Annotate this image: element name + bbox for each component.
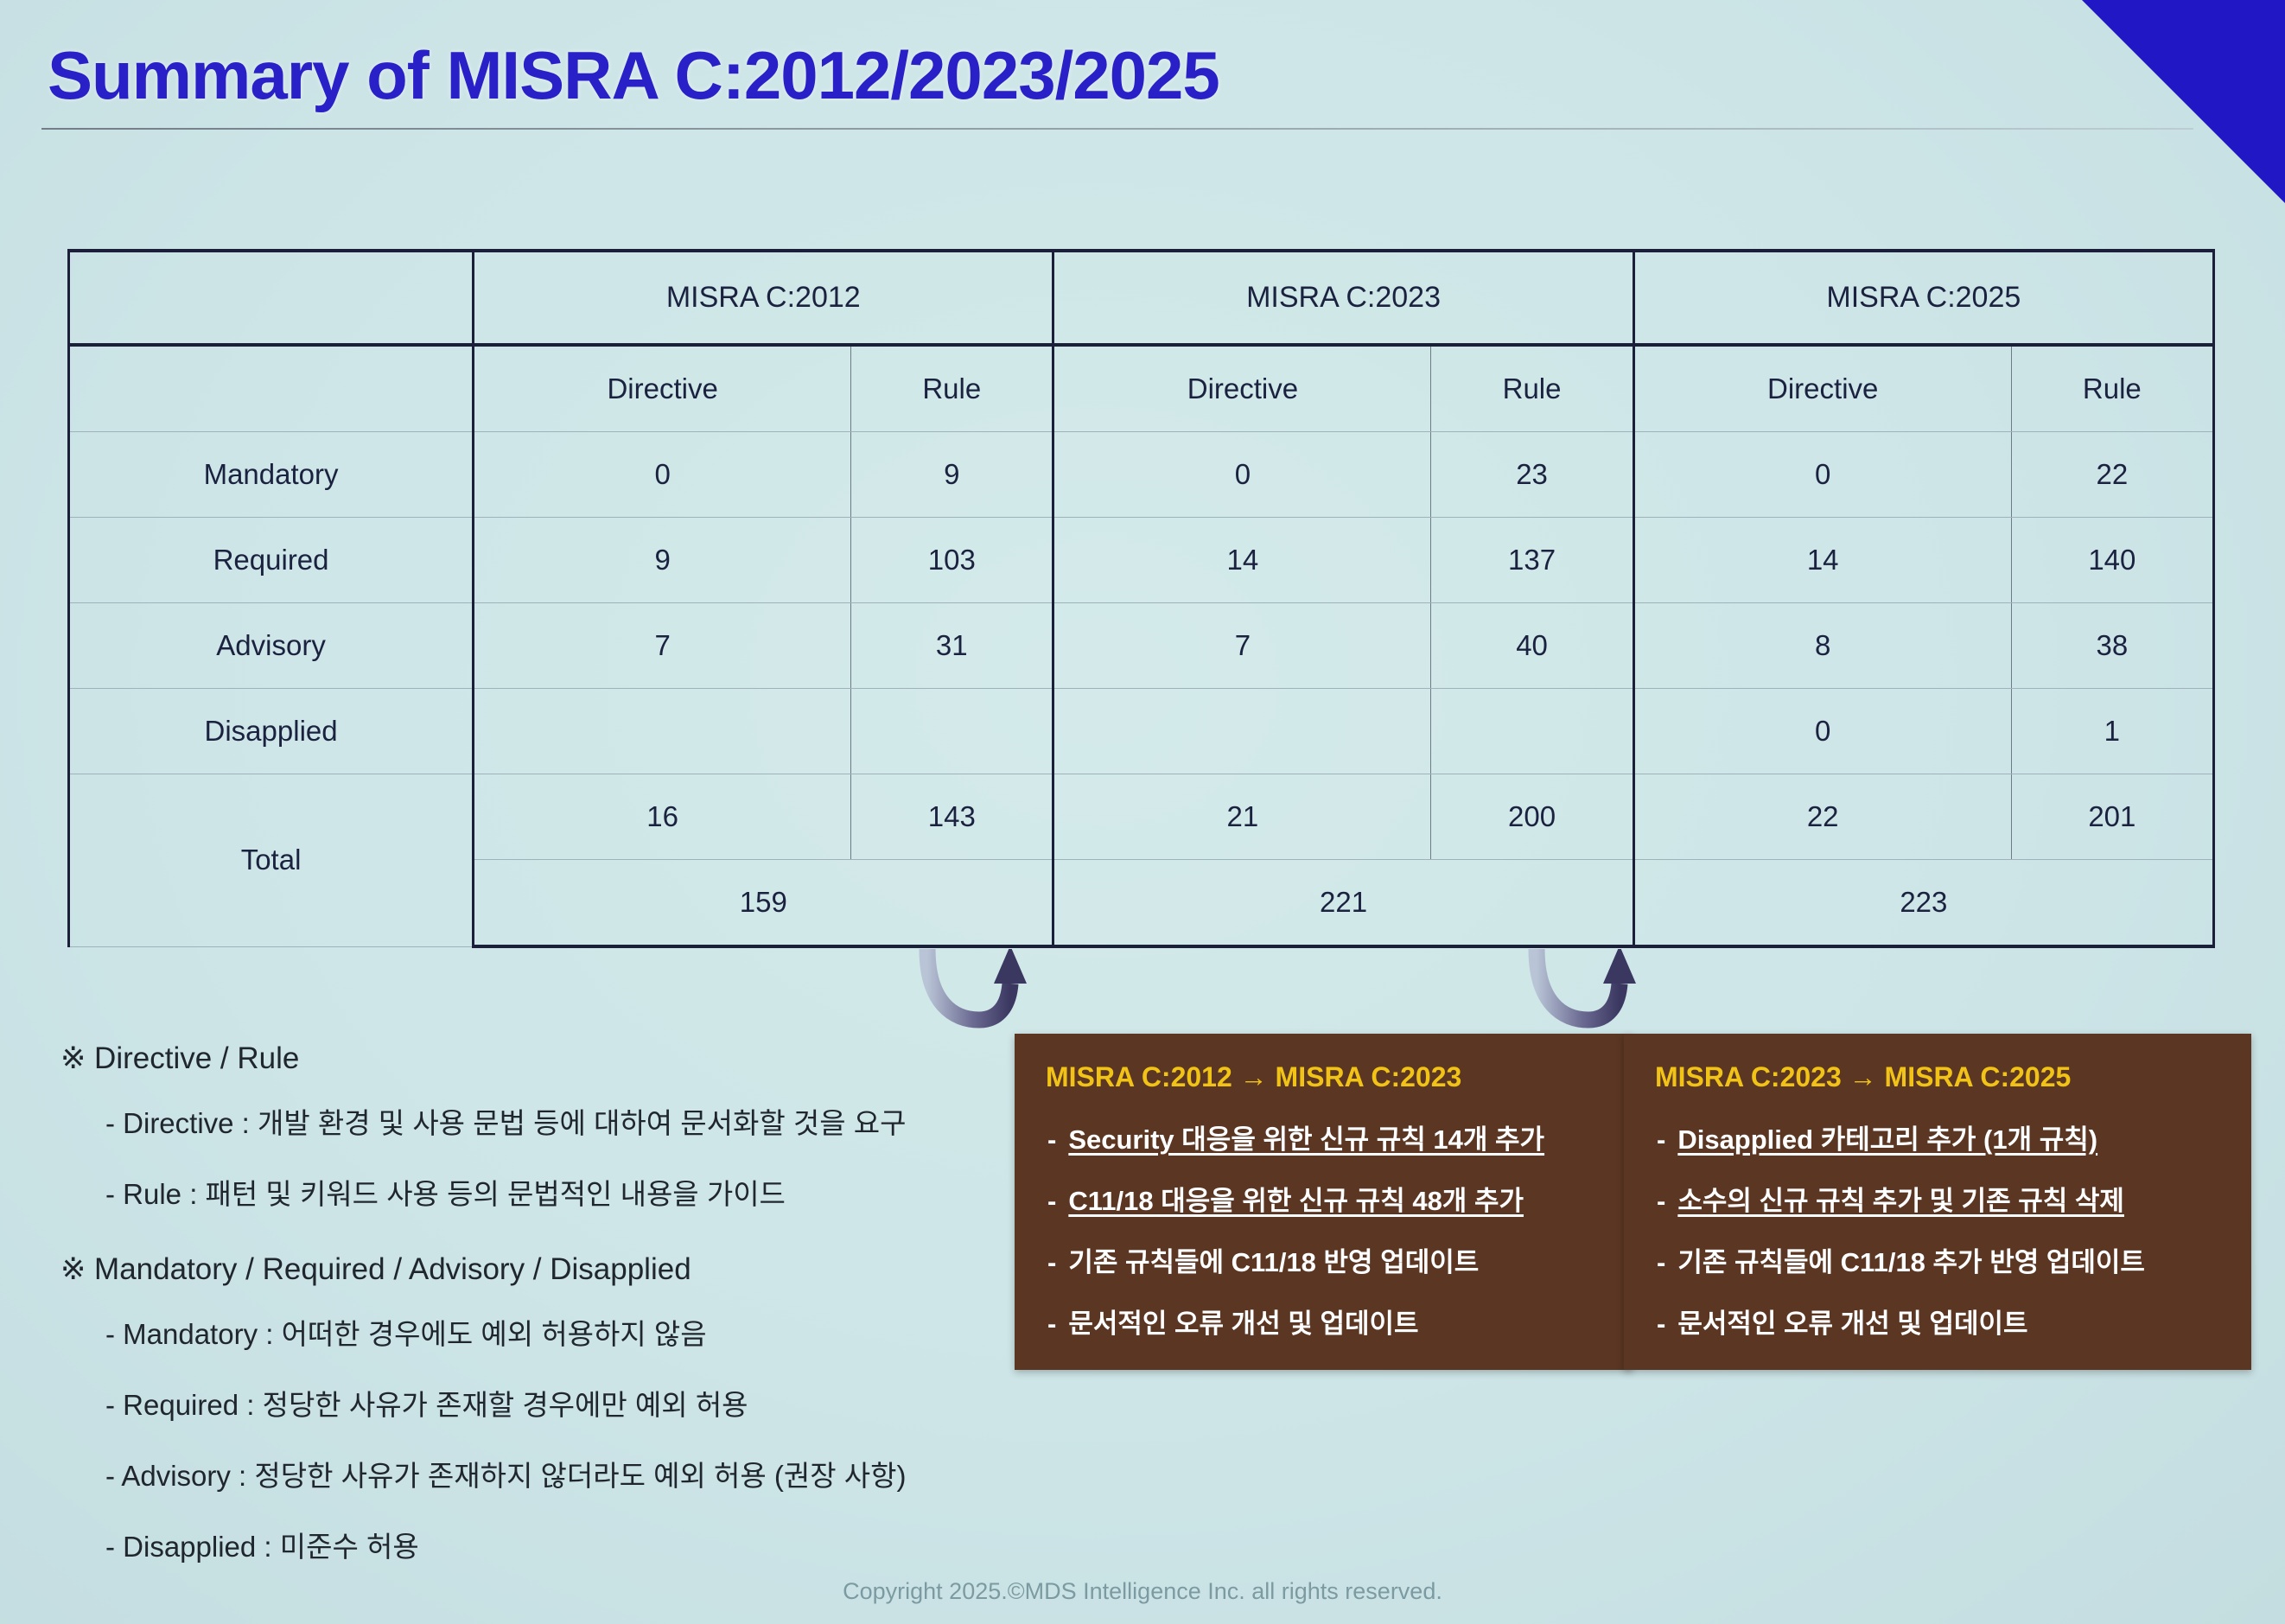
table-row: Advisory 7 31 7 40 8 38	[69, 603, 2214, 689]
page-title: Summary of MISRA C:2012/2023/2025	[48, 36, 1219, 115]
cell-total-sum-2023: 221	[1053, 860, 1633, 947]
cell-mandatory-2012-rule: 9	[851, 432, 1053, 518]
cell-required-2023-rule: 137	[1431, 518, 1633, 603]
table-subheader-row: Directive Rule Directive Rule Directive …	[69, 345, 2214, 432]
bullet-dash: -	[1047, 1124, 1056, 1156]
row-label-total: Total	[69, 774, 474, 947]
callout-box-2023-to-2025: MISRA C:2023 → MISRA C:2025 - Disapplied…	[1624, 1034, 2251, 1370]
bullet-dash: -	[1657, 1247, 1665, 1278]
table-group-header-row: MISRA C:2012 MISRA C:2023 MISRA C:2025	[69, 251, 2214, 345]
callout-right-item-4: - 문서적인 오류 개선 및 업데이트	[1657, 1302, 2225, 1341]
cell-total-sum-2025: 223	[1633, 860, 2213, 947]
curved-arrow-icon-left	[912, 949, 1041, 1044]
row-label-required: Required	[69, 518, 474, 603]
cell-advisory-2023-rule: 40	[1431, 603, 1633, 689]
cell-disapplied-2012-directive	[474, 689, 851, 774]
cell-required-2025-rule: 140	[2011, 518, 2213, 603]
group-header-misra-2012: MISRA C:2012	[474, 251, 1053, 345]
title-divider	[41, 128, 2193, 130]
cell-mandatory-2012-directive: 0	[474, 432, 851, 518]
callout-box-2012-to-2023: MISRA C:2012 → MISRA C:2023 - Security 대…	[1015, 1034, 1633, 1370]
table-row: Required 9 103 14 137 14 140	[69, 518, 2214, 603]
cell-disapplied-2025-directive: 0	[1633, 689, 2011, 774]
callout-right-item-3-text: 기존 규칙들에 C11/18 추가 반영 업데이트	[1677, 1240, 2145, 1279]
subheader-2012-directive: Directive	[474, 345, 851, 432]
note-item-directive: - Directive : 개발 환경 및 사용 문법 등에 대하여 문서화할 …	[105, 1100, 1011, 1142]
cell-mandatory-2025-directive: 0	[1633, 432, 2011, 518]
callout-left-item-1: - Security 대응을 위한 신규 규칙 14개 추가	[1047, 1118, 1607, 1156]
row-label-disapplied: Disapplied	[69, 689, 474, 774]
cell-advisory-2025-rule: 38	[2011, 603, 2213, 689]
group-header-misra-2023: MISRA C:2023	[1053, 251, 1633, 345]
cell-advisory-2012-directive: 7	[474, 603, 851, 689]
callout-left-item-4: - 문서적인 오류 개선 및 업데이트	[1047, 1302, 1607, 1341]
cell-total-sum-2012: 159	[474, 860, 1053, 947]
slide-canvas: Summary of MISRA C:2012/2023/2025 MISRA …	[0, 0, 2285, 1624]
callout-left-item-2-text: C11/18 대응을 위한 신규 규칙 48개 추가	[1068, 1179, 1524, 1218]
group-header-misra-2025: MISRA C:2025	[1633, 251, 2213, 345]
cell-total-2012-directive: 16	[474, 774, 851, 860]
cell-advisory-2023-directive: 7	[1053, 603, 1431, 689]
callout-left-item-4-text: 문서적인 오류 개선 및 업데이트	[1068, 1302, 1418, 1341]
note-heading-categories: ※ Mandatory / Required / Advisory / Disa…	[60, 1252, 1011, 1287]
cell-total-2023-rule: 200	[1431, 774, 1633, 860]
callout-right-item-4-text: 문서적인 오류 개선 및 업데이트	[1677, 1302, 2027, 1341]
table-row: Disapplied 0 1	[69, 689, 2214, 774]
summary-table: MISRA C:2012 MISRA C:2023 MISRA C:2025 D…	[67, 249, 2215, 948]
callout-left-item-3: - 기존 규칙들에 C11/18 반영 업데이트	[1047, 1240, 1607, 1279]
callout-left-title: MISRA C:2012 → MISRA C:2023	[1046, 1061, 1607, 1093]
summary-table-wrapper: MISRA C:2012 MISRA C:2023 MISRA C:2025 D…	[67, 249, 2215, 948]
row-label-mandatory: Mandatory	[69, 432, 474, 518]
callout-right-title: MISRA C:2023 → MISRA C:2025	[1655, 1061, 2225, 1093]
table-row: Mandatory 0 9 0 23 0 22	[69, 432, 2214, 518]
note-item-mandatory: - Mandatory : 어떠한 경우에도 예외 허용하지 않음	[105, 1311, 1011, 1353]
cell-mandatory-2025-rule: 22	[2011, 432, 2213, 518]
callout-right-item-3: - 기존 규칙들에 C11/18 추가 반영 업데이트	[1657, 1240, 2225, 1279]
cell-disapplied-2023-directive	[1053, 689, 1431, 774]
header-corner-cell	[69, 251, 474, 345]
callout-right-item-2-text: 소수의 신규 규칙 추가 및 기존 규칙 삭제	[1677, 1179, 2124, 1218]
cell-mandatory-2023-rule: 23	[1431, 432, 1633, 518]
callout-left-item-3-text: 기존 규칙들에 C11/18 반영 업데이트	[1068, 1240, 1479, 1279]
note-item-disapplied: - Disapplied : 미준수 허용	[105, 1524, 1011, 1565]
subheader-2025-directive: Directive	[1633, 345, 2011, 432]
corner-decoration-triangle	[2082, 0, 2285, 203]
cell-required-2023-directive: 14	[1053, 518, 1431, 603]
bullet-dash: -	[1047, 1186, 1056, 1217]
cell-required-2025-directive: 14	[1633, 518, 2011, 603]
bullet-dash: -	[1657, 1186, 1665, 1217]
subheader-2025-rule: Rule	[2011, 345, 2213, 432]
cell-total-2023-directive: 21	[1053, 774, 1431, 860]
callout-right-item-1: - Disapplied 카테고리 추가 (1개 규칙)	[1657, 1118, 2225, 1156]
callout-right-item-2: - 소수의 신규 규칙 추가 및 기존 규칙 삭제	[1657, 1179, 2225, 1218]
callout-right-item-1-text: Disapplied 카테고리 추가 (1개 규칙)	[1677, 1118, 2097, 1156]
cell-mandatory-2023-directive: 0	[1053, 432, 1431, 518]
row-label-advisory: Advisory	[69, 603, 474, 689]
bullet-dash: -	[1047, 1247, 1056, 1278]
callout-left-item-1-text: Security 대응을 위한 신규 규칙 14개 추가	[1068, 1118, 1544, 1156]
cell-total-2025-directive: 22	[1633, 774, 2011, 860]
subheader-corner-cell	[69, 345, 474, 432]
cell-disapplied-2023-rule	[1431, 689, 1633, 774]
subheader-2023-rule: Rule	[1431, 345, 1633, 432]
cell-total-2012-rule: 143	[851, 774, 1053, 860]
cell-disapplied-2025-rule: 1	[2011, 689, 2213, 774]
notes-section: ※ Directive / Rule - Directive : 개발 환경 및…	[60, 1041, 1011, 1595]
cell-advisory-2012-rule: 31	[851, 603, 1053, 689]
cell-required-2012-directive: 9	[474, 518, 851, 603]
note-item-advisory: - Advisory : 정당한 사유가 존재하지 않더라도 예외 허용 (권장…	[105, 1453, 1011, 1494]
note-heading-directive-rule: ※ Directive / Rule	[60, 1041, 1011, 1076]
subheader-2023-directive: Directive	[1053, 345, 1431, 432]
note-item-rule: - Rule : 패턴 및 키워드 사용 등의 문법적인 내용을 가이드	[105, 1171, 1011, 1213]
bullet-dash: -	[1047, 1309, 1056, 1340]
table-total-row-breakdown: Total 16 143 21 200 22 201	[69, 774, 2214, 860]
cell-advisory-2025-directive: 8	[1633, 603, 2011, 689]
copyright-notice: Copyright 2025.©MDS Intelligence Inc. al…	[0, 1578, 2285, 1605]
callout-left-item-2: - C11/18 대응을 위한 신규 규칙 48개 추가	[1047, 1179, 1607, 1218]
cell-required-2012-rule: 103	[851, 518, 1053, 603]
note-item-required: - Required : 정당한 사유가 존재할 경우에만 예외 허용	[105, 1382, 1011, 1423]
cell-disapplied-2012-rule	[851, 689, 1053, 774]
bullet-dash: -	[1657, 1309, 1665, 1340]
cell-total-2025-rule: 201	[2011, 774, 2213, 860]
curved-arrow-icon-right	[1521, 949, 1651, 1044]
bullet-dash: -	[1657, 1124, 1665, 1156]
subheader-2012-rule: Rule	[851, 345, 1053, 432]
